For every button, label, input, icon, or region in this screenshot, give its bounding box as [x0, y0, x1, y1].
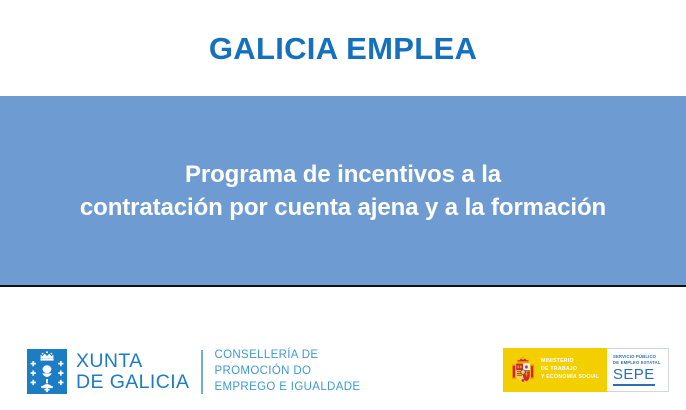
logo-divider: [201, 350, 203, 394]
ministerio-line-3: Y ECONOMÍA SOCIAL: [541, 374, 599, 382]
footer-logos: XUNTA DE GALICIA CONSELLERÍA DE PROMOCIÓ…: [0, 288, 686, 410]
banner-bottom-rule: [0, 285, 686, 287]
program-banner-text: Programa de incentivos a la contratación…: [66, 159, 620, 224]
ministerio-wordmark: MINISTERIO DE TRABAJO Y ECONOMÍA SOCIAL: [541, 358, 599, 381]
conselleria-line-1: CONSELLERÍA DE: [214, 348, 360, 364]
conselleria-line-2: PROMOCIÓN DO: [214, 364, 360, 380]
xunta-wordmark-line-2: DE GALICIA: [76, 372, 189, 393]
sepe-wordmark: SEPE: [613, 367, 655, 386]
conselleria-label: CONSELLERÍA DE PROMOCIÓN DO EMPREGO E IG…: [214, 348, 360, 396]
sepe-subtitle: SERVICIO PÚBLICO DE EMPLEO ESTATAL: [613, 354, 661, 366]
government-logos: MINISTERIO DE TRABAJO Y ECONOMÍA SOCIAL …: [503, 348, 669, 392]
ministerio-de-trabajo-logo: MINISTERIO DE TRABAJO Y ECONOMÍA SOCIAL: [503, 348, 607, 392]
banner-line-2: contratación por cuenta ajena y a la for…: [80, 192, 606, 224]
sepe-logo: SERVICIO PÚBLICO DE EMPLEO ESTATAL SEPE: [607, 348, 669, 392]
title-area: GALICIA EMPLEA: [0, 0, 686, 96]
xunta-de-galicia-logo: XUNTA DE GALICIA CONSELLERÍA DE PROMOCIÓ…: [27, 348, 360, 396]
spain-coat-of-arms-icon: [511, 355, 535, 385]
ministerio-line-1: MINISTERIO: [541, 358, 599, 366]
ministerio-line-2: DE TRABAJO: [541, 366, 599, 374]
page-title: GALICIA EMPLEA: [209, 33, 477, 64]
conselleria-line-3: EMPREGO E IGUALDADE: [214, 380, 360, 396]
banner-line-1: Programa de incentivos a la: [80, 159, 606, 191]
xunta-wordmark: XUNTA DE GALICIA: [76, 351, 189, 392]
xunta-wordmark-line-1: XUNTA: [76, 351, 189, 372]
galicia-coat-of-arms-icon: [27, 349, 67, 394]
program-banner: Programa de incentivos a la contratación…: [0, 96, 686, 287]
